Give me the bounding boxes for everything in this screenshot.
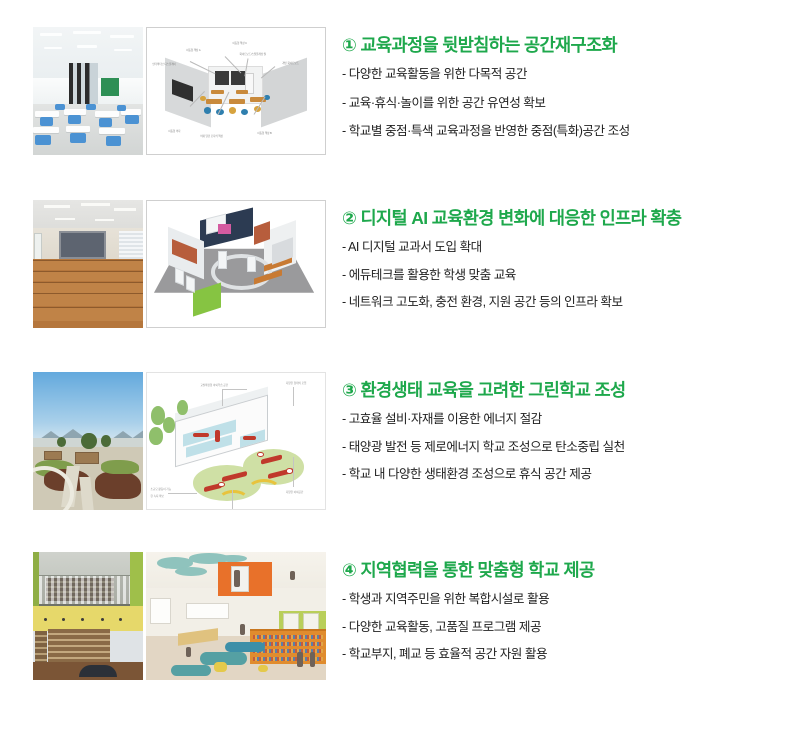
diagram-label: 이동형 책상 A bbox=[186, 48, 200, 52]
books bbox=[253, 635, 323, 639]
green-wall-window bbox=[283, 613, 299, 630]
section-row-4: ④ 지역협력을 통한 맞춤형 학교 제공 - 학생과 지역주민을 위한 복합시설… bbox=[0, 552, 790, 680]
tree bbox=[163, 417, 175, 433]
chair bbox=[70, 133, 85, 143]
person bbox=[240, 624, 245, 636]
section-row-2: ② 디지털 AI 교육환경 변화에 대응한 인프라 확충 - AI 디지털 교과… bbox=[0, 200, 790, 328]
indoor-table bbox=[243, 436, 255, 440]
folding-door bbox=[69, 63, 98, 104]
person bbox=[186, 647, 191, 657]
desk bbox=[99, 128, 125, 134]
section-4-photo bbox=[33, 552, 143, 680]
diagram-label: 다양한 야외공간 bbox=[286, 490, 303, 494]
table bbox=[206, 99, 222, 104]
ceiling-light bbox=[73, 31, 102, 34]
indoor-table bbox=[193, 433, 209, 437]
ceiling-light bbox=[114, 208, 136, 211]
tree bbox=[177, 400, 188, 415]
bullet-item: - 학생과 지역주민을 위한 복합시설로 활용 bbox=[342, 592, 790, 608]
diagram-label: 교실확장형 야외학습 공간 bbox=[200, 383, 228, 387]
tree bbox=[101, 435, 111, 446]
interior-window bbox=[150, 598, 172, 624]
diagram-label: 이동형 의자 bbox=[168, 129, 180, 133]
section-3-text: ③ 환경생태 교육을 고려한 그린학교 조성 - 고효율 설비·자재를 이용한 … bbox=[342, 372, 790, 495]
acoustic-cloud bbox=[218, 555, 247, 563]
interior-window bbox=[186, 603, 229, 618]
diagram-label: 이동형 책상 B bbox=[257, 131, 271, 135]
kiosk bbox=[247, 256, 256, 271]
yellow-wall bbox=[33, 606, 143, 632]
leader-line bbox=[222, 389, 247, 390]
green-wall-window bbox=[303, 613, 319, 630]
section-4-diagram bbox=[146, 552, 326, 680]
outdoor-seat bbox=[286, 468, 293, 473]
curved-path bbox=[218, 490, 249, 510]
chalkboard-icon bbox=[101, 78, 119, 96]
ceiling-light bbox=[55, 218, 75, 220]
wall-light bbox=[119, 618, 122, 621]
wall-light bbox=[81, 618, 84, 621]
section-3-bullets: - 고효율 설비·자재를 이용한 에너지 절감 - 태양광 발전 등 제로에너지… bbox=[342, 412, 790, 483]
right-wall bbox=[261, 57, 307, 127]
diagram-label: 바퀴 달린 모자식 책상 bbox=[200, 134, 222, 138]
diagram-label: 소규모 활동이 가능 bbox=[151, 487, 172, 491]
planting-bed bbox=[95, 471, 141, 499]
leader-line bbox=[222, 389, 223, 405]
section-2-text: ② 디지털 AI 교육환경 변화에 대응한 인프라 확충 - AI 디지털 교과… bbox=[342, 200, 790, 323]
projection-screen-icon bbox=[59, 231, 105, 259]
locker bbox=[175, 267, 184, 286]
section-1-photo bbox=[33, 27, 143, 155]
section-2-heading: ② 디지털 AI 교육환경 변화에 대응한 인프라 확충 bbox=[342, 208, 790, 229]
ceiling-light bbox=[95, 219, 115, 221]
planting-bed bbox=[101, 460, 138, 474]
bullet-item: - 고효율 설비·자재를 이용한 에너지 절감 bbox=[342, 412, 790, 428]
leader-line bbox=[293, 387, 294, 406]
ceiling-light bbox=[40, 33, 62, 36]
tree bbox=[57, 437, 66, 447]
section-2-photo bbox=[33, 200, 143, 328]
diagram-label: 한 녹지 확보 bbox=[151, 494, 164, 498]
section-3-photo bbox=[33, 372, 143, 510]
ceiling-light bbox=[110, 35, 134, 38]
seat-row bbox=[33, 260, 143, 270]
leader-line bbox=[293, 457, 294, 487]
person bbox=[310, 652, 315, 667]
section-1-bullets: - 다양한 교육활동을 위한 다목적 공간 - 교육·휴식·놀이를 위한 공간 … bbox=[342, 67, 790, 140]
section-3-diagram: 교실확장형 야외학습 공간 다양한 형태의 모임 다양한 야외공간 소규모 활동… bbox=[146, 372, 326, 510]
chair bbox=[117, 105, 127, 111]
chair bbox=[99, 118, 112, 127]
section-2-bullets: - AI 디지털 교과서 도입 확대 - 에듀테크를 활용한 학생 맞춤 교육 … bbox=[342, 240, 790, 311]
section-4-bullets: - 학생과 지역주민을 위한 복합시설로 활용 - 다양한 교육활동, 고품질 … bbox=[342, 592, 790, 663]
section-4-heading: ④ 지역협력을 통한 맞춤형 학교 제공 bbox=[342, 560, 790, 581]
accent-furniture bbox=[218, 224, 230, 234]
bullet-item: - AI 디지털 교과서 도입 확대 bbox=[342, 240, 790, 256]
wall-light bbox=[62, 618, 65, 621]
tree bbox=[81, 433, 96, 450]
bullet-item: - 다양한 교육활동, 고품질 프로그램 제공 bbox=[342, 620, 790, 636]
chair bbox=[40, 117, 53, 126]
chair bbox=[106, 136, 121, 146]
infographic-page: 인터랙티브 디스플레이 이동형 책상 A 이동형 책상 C 화이트보드/스틸플래… bbox=[0, 0, 790, 748]
section-row-1: 인터랙티브 디스플레이 이동형 책상 A 이동형 책상 C 화이트보드/스틸플래… bbox=[0, 27, 790, 155]
kiosk bbox=[218, 251, 227, 269]
section-4-text: ④ 지역협력을 통한 맞춤형 학교 제공 - 학생과 지역주민을 위한 복합시설… bbox=[342, 552, 790, 675]
ceiling-light bbox=[77, 45, 97, 48]
locker bbox=[186, 275, 195, 292]
seat-row bbox=[33, 282, 143, 293]
leader-line bbox=[232, 490, 233, 509]
seat-row bbox=[33, 293, 143, 306]
desk bbox=[33, 127, 59, 133]
desk bbox=[95, 111, 119, 117]
bullet-item: - 학교별 중점·특색 교육과정을 반영한 중점(특화)공간 조성 bbox=[342, 124, 790, 140]
diagram-label: 화이트보드/스틸플래닝 월 bbox=[240, 52, 266, 56]
person bbox=[297, 652, 302, 667]
table bbox=[211, 90, 223, 94]
section-2-diagram bbox=[146, 200, 326, 328]
chair bbox=[68, 115, 81, 124]
window-blind bbox=[119, 231, 143, 262]
bullet-item: - 태양광 발전 등 제로에너지 학교 조성으로 탄소중립 실천 bbox=[342, 440, 790, 456]
soft-seating bbox=[171, 665, 211, 677]
section-1-heading: ① 교육과정을 뒷받침하는 공간재구조화 bbox=[342, 35, 790, 56]
section-3-heading: ③ 환경생태 교육을 고려한 그린학교 조성 bbox=[342, 380, 790, 401]
tv-icon bbox=[215, 71, 229, 85]
bullet-item: - 다양한 교육활동을 위한 다목적 공간 bbox=[342, 67, 790, 83]
planter-box bbox=[75, 452, 99, 464]
ceiling-light bbox=[44, 205, 70, 208]
person bbox=[234, 570, 239, 587]
desk bbox=[64, 109, 86, 115]
bullet-item: - 학교 내 다양한 생태환경 조성으로 휴식 공간 제공 bbox=[342, 467, 790, 483]
person bbox=[290, 571, 295, 580]
desk bbox=[66, 126, 90, 132]
section-1-diagram: 인터랙티브 디스플레이 이동형 책상 A 이동형 책상 C 화이트보드/스틸플래… bbox=[146, 27, 326, 155]
planter-box bbox=[44, 451, 62, 461]
chair bbox=[86, 104, 96, 110]
bullet-item: - 네트워크 고도화, 충전 환경, 지원 공간 등의 인프라 확보 bbox=[342, 295, 790, 311]
ceiling-light bbox=[81, 203, 110, 206]
wall-light bbox=[44, 618, 47, 621]
stool bbox=[200, 96, 205, 101]
bullet-item: - 학교부지, 폐교 등 효율적 공간 자원 활용 bbox=[342, 647, 790, 663]
table bbox=[229, 99, 245, 104]
pouf bbox=[258, 665, 269, 673]
soft-seating bbox=[225, 642, 265, 652]
section-1-text: ① 교육과정을 뒷받침하는 공간재구조화 - 다양한 교육활동을 위한 다목적 … bbox=[342, 27, 790, 153]
ceiling-light bbox=[114, 49, 132, 51]
leader-line bbox=[168, 493, 196, 494]
table bbox=[236, 90, 248, 94]
pouf bbox=[214, 662, 227, 672]
seating-area bbox=[33, 259, 143, 328]
curved-path bbox=[247, 479, 281, 501]
chair bbox=[125, 115, 138, 124]
seat-row bbox=[33, 307, 143, 321]
stool bbox=[204, 107, 211, 113]
tree bbox=[149, 427, 163, 445]
bullet-item: - 에듀테크를 활용한 학생 맞춤 교육 bbox=[342, 268, 790, 284]
bullet-item: - 교육·휴식·놀이를 위한 공간 유연성 확보 bbox=[342, 96, 790, 112]
curved-sofa bbox=[79, 665, 116, 678]
diagram-label: 다양한 형태의 모임 bbox=[286, 381, 307, 385]
chair bbox=[35, 135, 50, 145]
indoor-table bbox=[215, 430, 220, 442]
diagram-label: 이동형 책상 C bbox=[232, 41, 246, 45]
green-wall-left bbox=[33, 552, 39, 606]
diagram-label: 인터랙티브 디스플레이 bbox=[152, 62, 175, 66]
section-row-3: 교실확장형 야외학습 공간 다양한 형태의 모임 다양한 야외공간 소규모 활동… bbox=[0, 372, 790, 510]
wall-light bbox=[101, 618, 104, 621]
stool bbox=[229, 107, 236, 113]
diagram-label: 개인 화이트보드 bbox=[282, 61, 299, 65]
chair bbox=[55, 104, 65, 110]
tv-icon bbox=[231, 71, 245, 85]
stool bbox=[241, 109, 248, 115]
glass-railing bbox=[33, 575, 143, 606]
seat-row bbox=[33, 271, 143, 282]
